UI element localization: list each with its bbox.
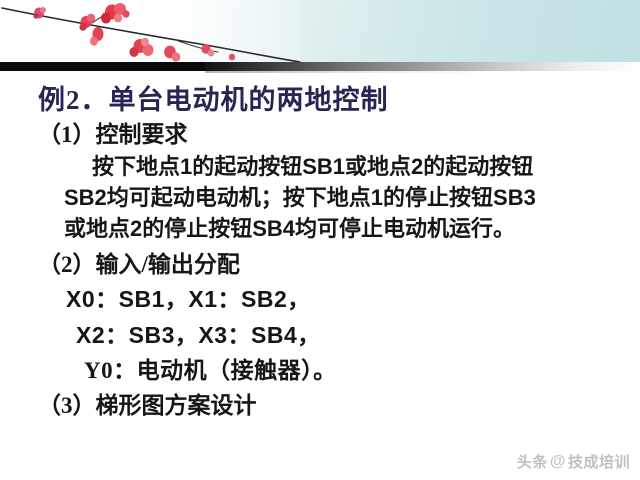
section-2-heading: （2）输入/输出分配 [38,248,640,281]
section-3-heading: （3）梯形图方案设计 [38,389,640,422]
io-assign-y0: Y0：电动机（接触器）。 [84,353,640,389]
slide-body: （1）控制要求 按下地点1的起动按钮SB1或地点2的起动按钮 SB2均可起动电动… [0,118,640,422]
at-icon: @ [550,453,566,471]
header-rule-thin [205,71,505,73]
header-rule-gradient [205,62,640,71]
section-1-line-3: 或地点2的停止按钮SB4均可停止电动机运行。 [64,213,640,244]
slide-canvas: 例2．单台电动机的两地控制 （1）控制要求 按下地点1的起动按钮SB1或地点2的… [0,0,640,480]
page-title: 例2．单台电动机的两地控制 [38,78,389,117]
io-assign-x2-x3: X2：SB3，X3：SB4， [76,317,640,353]
plum-blossom-branch-decoration [0,0,330,62]
section-1-heading: （1）控制要求 [38,118,640,151]
io-assign-x0-x1: X0：SB1，X1：SB2， [66,281,640,317]
watermark-account: 技成培训 [568,451,630,472]
watermark-platform: 头条 [517,451,548,472]
header-rule-solid [0,62,205,71]
section-1-line-2: SB2均可起动电动机；按下地点1的停止按钮SB3 [64,182,640,213]
section-1-line-1: 按下地点1的起动按钮SB1或地点2的起动按钮 [92,151,640,182]
watermark: 头条 @ 技成培训 [517,451,630,472]
